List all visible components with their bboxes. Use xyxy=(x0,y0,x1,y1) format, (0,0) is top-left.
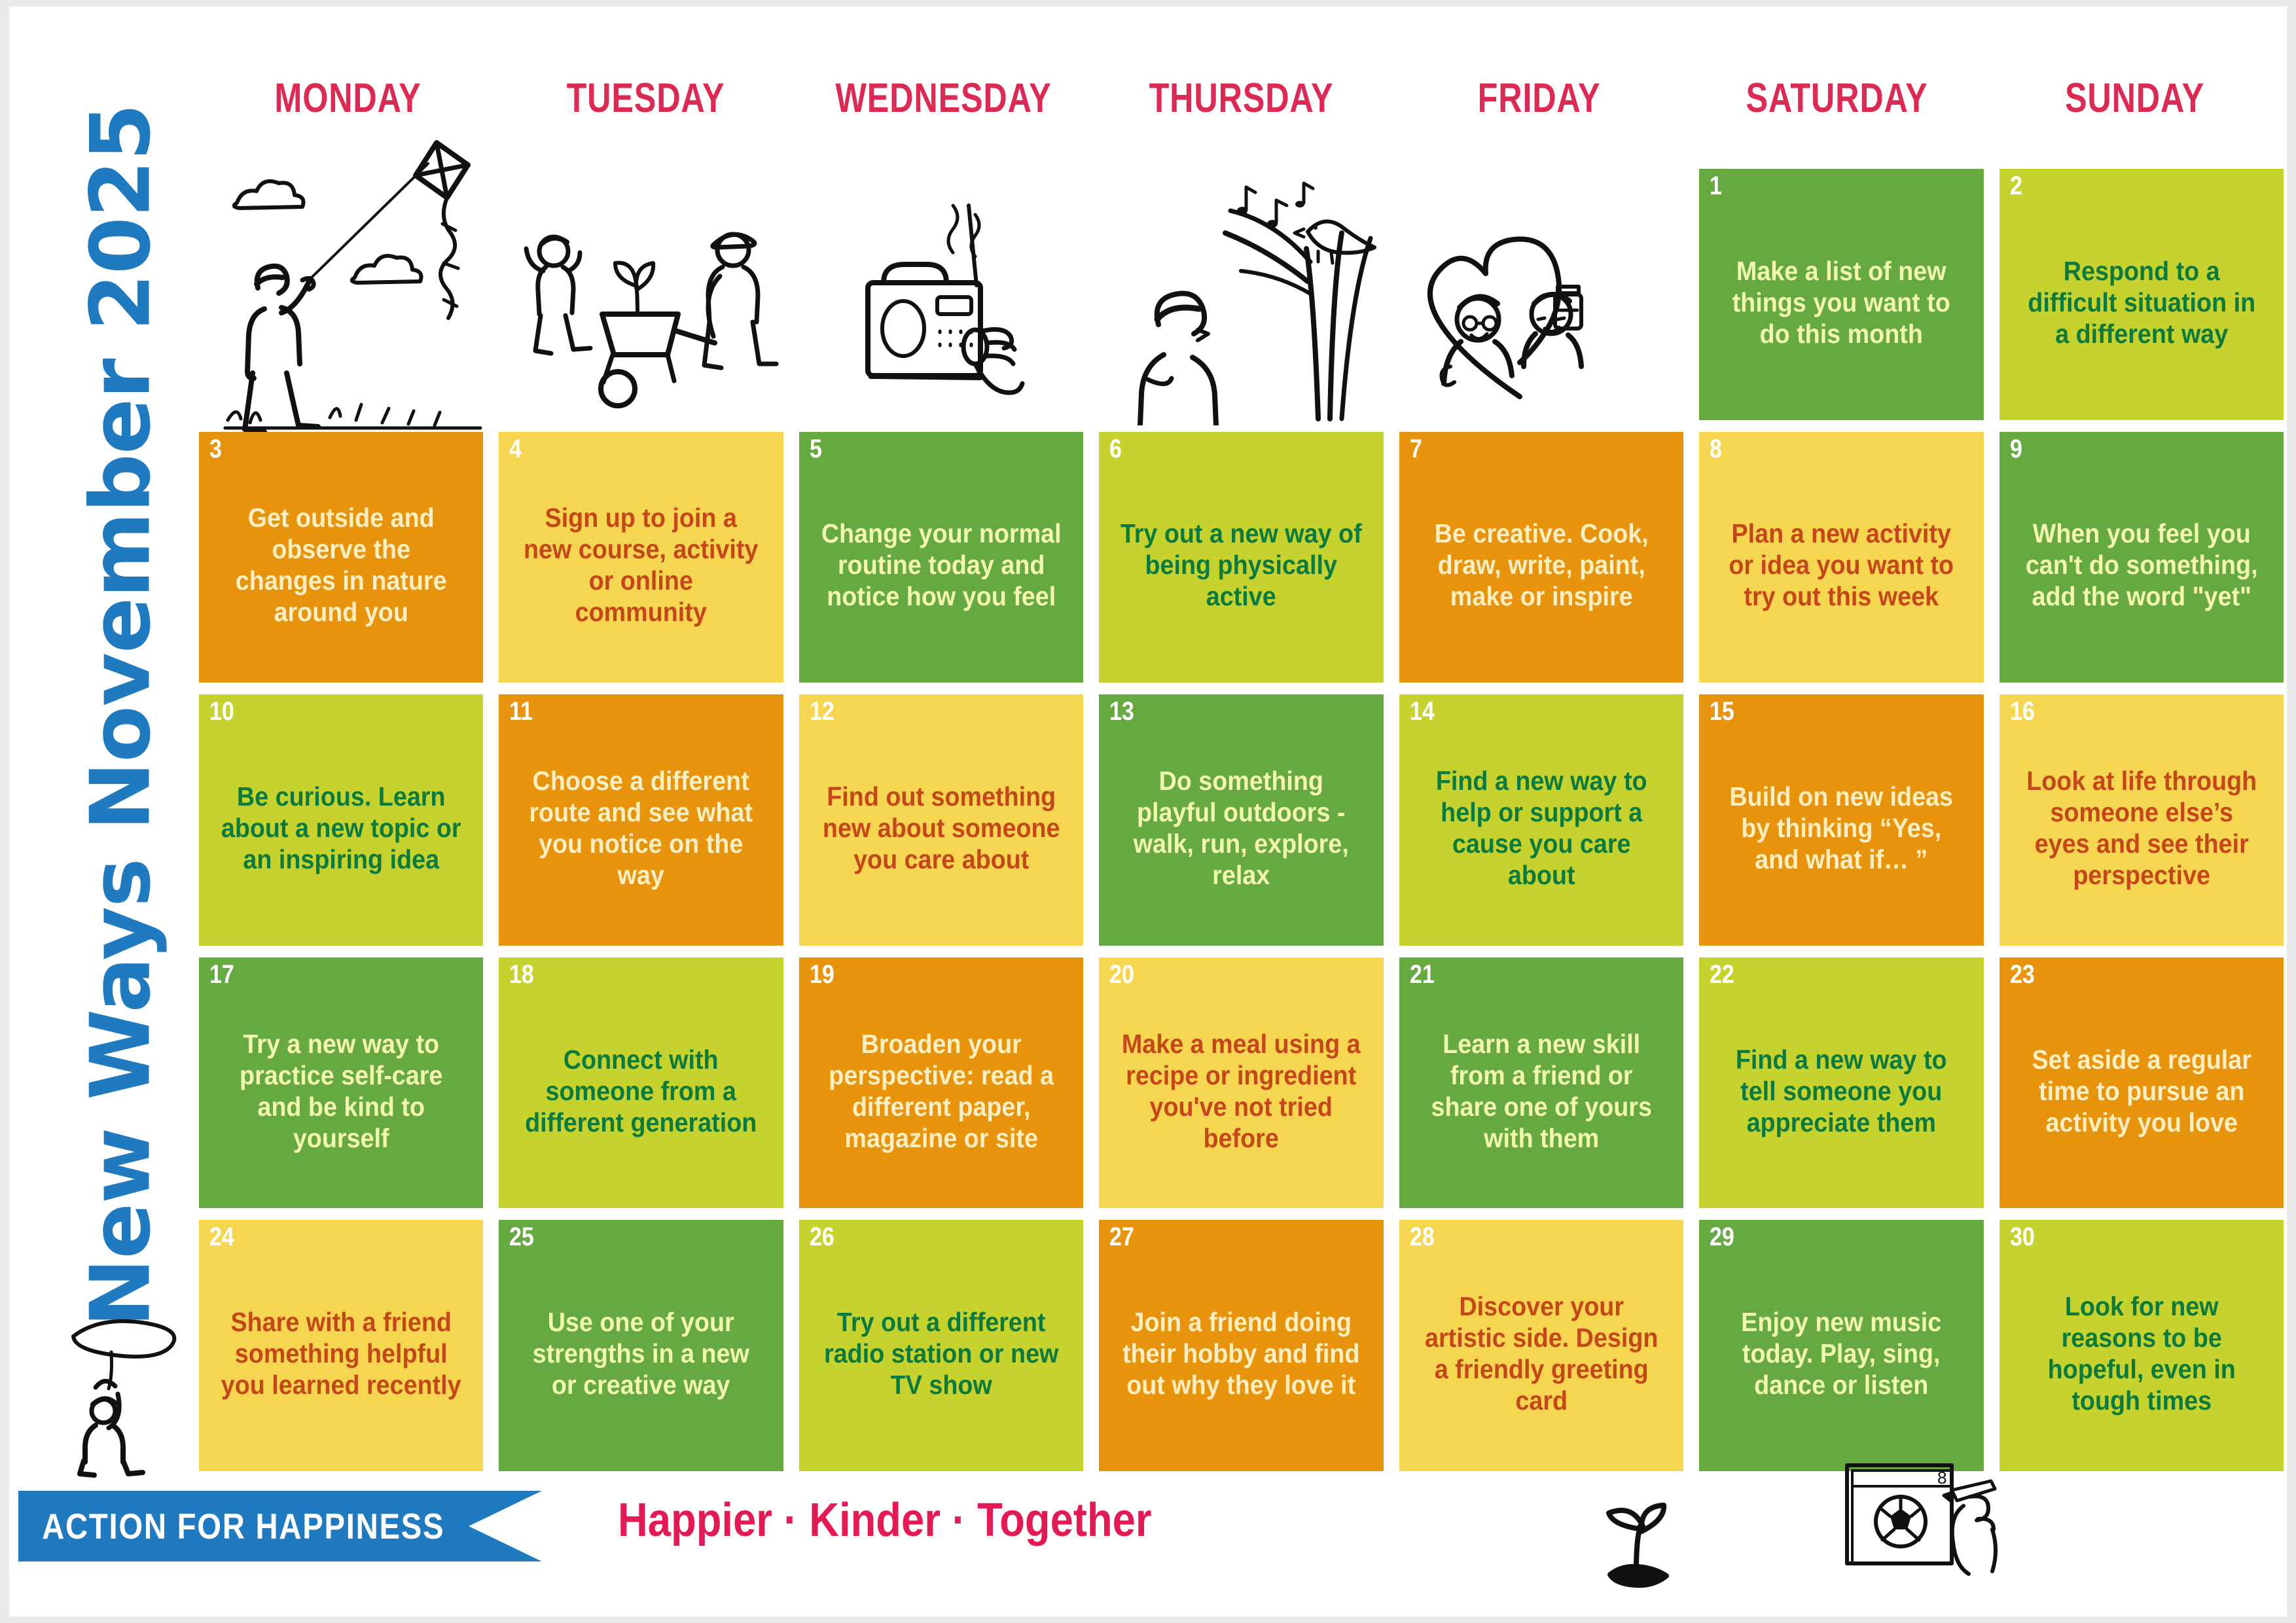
calendar-day-cell[interactable]: 4Sign up to join a new course, activity … xyxy=(499,432,783,683)
calendar-day-cell[interactable]: 12Find out something new about someone y… xyxy=(799,694,1083,946)
day-action-text: Find out something new about someone you… xyxy=(820,767,1062,876)
day-number: 12 xyxy=(810,698,834,724)
calendar-day-cell[interactable]: 15Build on new ideas by thinking “Yes, a… xyxy=(1699,694,1983,946)
day-number: 6 xyxy=(1109,436,1122,462)
day-number: 26 xyxy=(810,1224,834,1250)
day-action-text: Use one of your strengths in a new or cr… xyxy=(520,1293,762,1401)
day-number: 17 xyxy=(209,961,234,988)
day-action-text: Join a friend doing their hobby and find… xyxy=(1120,1293,1362,1401)
day-action-text: Make a list of new things you want to do… xyxy=(1720,241,1962,350)
calendar-day-cell[interactable]: 22Find a new way to tell someone you app… xyxy=(1699,957,1983,1209)
calendar-day-cell[interactable]: 28Discover your artistic side. Design a … xyxy=(1399,1220,1683,1471)
calendar-day-cell[interactable]: 23Set aside a regular time to pursue an … xyxy=(2000,957,2284,1209)
calendar-day-cell[interactable]: 14Find a new way to help or support a ca… xyxy=(1399,694,1683,946)
weekday-saturday: SATURDAY xyxy=(1718,75,1956,127)
day-number: 24 xyxy=(209,1224,234,1250)
weekday-tuesday: TUESDAY xyxy=(527,75,765,127)
day-action-text: Try out a new way of being physically ac… xyxy=(1120,504,1362,613)
calendar-cell-empty xyxy=(499,169,783,420)
day-action-text: Broaden your perspective: read a differe… xyxy=(820,1014,1062,1154)
day-number: 3 xyxy=(209,436,222,462)
calendar-day-cell[interactable]: 3Get outside and observe the changes in … xyxy=(199,432,483,683)
day-number: 30 xyxy=(2010,1224,2035,1250)
brand-label: ACTION FOR HAPPINESS xyxy=(18,1505,444,1547)
weekday-monday: MONDAY xyxy=(229,75,467,127)
day-action-text: Connect with someone from a different ge… xyxy=(520,1030,762,1139)
day-number: 28 xyxy=(1410,1224,1435,1250)
calendar-day-cell[interactable]: 18Connect with someone from a different … xyxy=(499,957,783,1209)
calendar-day-cell[interactable]: 13Do something playful outdoors - walk, … xyxy=(1099,694,1383,946)
day-action-text: Find a new way to help or support a caus… xyxy=(1420,751,1662,891)
day-action-text: Plan a new activity or idea you want to … xyxy=(1720,504,1962,613)
day-number: 18 xyxy=(509,961,534,988)
calendar-cell-empty xyxy=(799,169,1083,420)
day-number: 14 xyxy=(1410,698,1435,724)
day-action-text: Change your normal routine today and not… xyxy=(820,504,1062,613)
day-action-text: Share with a friend something helpful yo… xyxy=(220,1293,462,1401)
day-action-text: Try a new way to practice self-care and … xyxy=(220,1014,462,1154)
day-number: 7 xyxy=(1410,436,1422,462)
day-number: 27 xyxy=(1109,1224,1134,1250)
calendar-day-cell[interactable]: 5Change your normal routine today and no… xyxy=(799,432,1083,683)
day-action-text: Discover your artistic side. Design a fr… xyxy=(1420,1277,1662,1417)
day-number: 1 xyxy=(1710,173,1722,199)
day-action-text: Be curious. Learn about a new topic or a… xyxy=(220,767,462,876)
day-number: 16 xyxy=(2010,698,2035,724)
day-number: 25 xyxy=(509,1224,534,1250)
day-action-text: Look for new reasons to be hopeful, even… xyxy=(2020,1277,2263,1417)
day-action-text: Try out a different radio station or new… xyxy=(820,1293,1062,1401)
weekday-header-row: MONDAY TUESDAY WEDNESDAY THURSDAY FRIDAY… xyxy=(199,75,2284,127)
calendar-day-cell[interactable]: 30Look for new reasons to be hopeful, ev… xyxy=(2000,1220,2284,1471)
day-number: 4 xyxy=(509,436,522,462)
calendar-grid: 1Make a list of new things you want to d… xyxy=(199,169,2284,1471)
calendar-day-cell[interactable]: 24Share with a friend something helpful … xyxy=(199,1220,483,1471)
day-number: 22 xyxy=(1710,961,1734,988)
poster-title-rail: New Ways November 2025 xyxy=(9,7,199,1492)
day-action-text: Build on new ideas by thinking “Yes, and… xyxy=(1720,767,1962,876)
day-number: 8 xyxy=(1710,436,1722,462)
calendar-day-cell[interactable]: 6Try out a new way of being physically a… xyxy=(1099,432,1383,683)
calendar-day-cell[interactable]: 29Enjoy new music today. Play, sing, dan… xyxy=(1699,1220,1983,1471)
calendar-day-cell[interactable]: 2Respond to a difficult situation in a d… xyxy=(2000,169,2284,420)
calendar-cell-empty xyxy=(199,169,483,420)
day-action-text: Sign up to join a new course, activity o… xyxy=(520,488,762,628)
weekday-wednesday: WEDNESDAY xyxy=(825,75,1063,127)
day-number: 15 xyxy=(1710,698,1734,724)
calendar-day-cell[interactable]: 20Make a meal using a recipe or ingredie… xyxy=(1099,957,1383,1209)
day-number: 13 xyxy=(1109,698,1134,724)
day-number: 21 xyxy=(1410,961,1435,988)
calendar-poster: New Ways November 2025 MONDAY TUESDAY WE… xyxy=(9,7,2287,1616)
calendar-day-cell[interactable]: 7Be creative. Cook, draw, write, paint, … xyxy=(1399,432,1683,683)
day-action-text: Get outside and observe the changes in n… xyxy=(220,488,462,628)
tagline: Happier · Kinder · Together xyxy=(618,1493,1152,1547)
day-action-text: Look at life through someone else’s eyes… xyxy=(2020,751,2263,891)
weekday-friday: FRIDAY xyxy=(1420,75,1659,127)
day-action-text: Respond to a difficult situation in a di… xyxy=(2020,241,2263,350)
day-action-text: Make a meal using a recipe or ingredient… xyxy=(1120,1014,1362,1154)
calendar-day-cell[interactable]: 11Choose a different route and see what … xyxy=(499,694,783,946)
calendar-day-cell[interactable]: 1Make a list of new things you want to d… xyxy=(1699,169,1983,420)
day-number: 2 xyxy=(2010,173,2022,199)
calendar-day-cell[interactable]: 10Be curious. Learn about a new topic or… xyxy=(199,694,483,946)
day-action-text: Set aside a regular time to pursue an ac… xyxy=(2020,1030,2263,1139)
day-action-text: When you feel you can't do something, ad… xyxy=(2020,504,2263,613)
calendar-day-cell[interactable]: 9When you feel you can't do something, a… xyxy=(2000,432,2284,683)
calendar-day-cell[interactable]: 26Try out a different radio station or n… xyxy=(799,1220,1083,1471)
calendar-day-cell[interactable]: 21Learn a new skill from a friend or sha… xyxy=(1399,957,1683,1209)
day-action-text: Find a new way to tell someone you appre… xyxy=(1720,1030,1962,1139)
day-action-text: Be creative. Cook, draw, write, paint, m… xyxy=(1420,504,1662,613)
page-title: New Ways November 2025 xyxy=(73,29,169,1403)
day-number: 5 xyxy=(810,436,822,462)
poster-footer: ACTION FOR HAPPINESS Happier · Kinder · … xyxy=(9,1479,2287,1610)
day-number: 19 xyxy=(810,961,834,988)
day-action-text: Do something playful outdoors - walk, ru… xyxy=(1120,751,1362,891)
weekday-thursday: THURSDAY xyxy=(1122,75,1361,127)
calendar-cell-empty xyxy=(1099,169,1383,420)
day-number: 29 xyxy=(1710,1224,1734,1250)
day-number: 9 xyxy=(2010,436,2022,462)
calendar-day-cell[interactable]: 25Use one of your strengths in a new or … xyxy=(499,1220,783,1471)
day-action-text: Choose a different route and see what yo… xyxy=(520,751,762,891)
calendar-day-cell[interactable]: 8Plan a new activity or idea you want to… xyxy=(1699,432,1983,683)
day-number: 11 xyxy=(509,698,533,724)
day-number: 23 xyxy=(2010,961,2035,988)
calendar-day-cell[interactable]: 19Broaden your perspective: read a diffe… xyxy=(799,957,1083,1209)
calendar-day-cell[interactable]: 27Join a friend doing their hobby and fi… xyxy=(1099,1220,1383,1471)
day-number: 10 xyxy=(209,698,234,724)
calendar-day-cell[interactable]: 17Try a new way to practice self-care an… xyxy=(199,957,483,1209)
day-action-text: Learn a new skill from a friend or share… xyxy=(1420,1014,1662,1154)
action-for-happiness-badge: ACTION FOR HAPPINESS xyxy=(18,1491,542,1561)
calendar-day-cell[interactable]: 16Look at life through someone else’s ey… xyxy=(2000,694,2284,946)
weekday-sunday: SUNDAY xyxy=(2016,75,2254,127)
calendar-cell-empty xyxy=(1399,169,1683,420)
day-number: 20 xyxy=(1109,961,1134,988)
day-action-text: Enjoy new music today. Play, sing, dance… xyxy=(1720,1293,1962,1401)
